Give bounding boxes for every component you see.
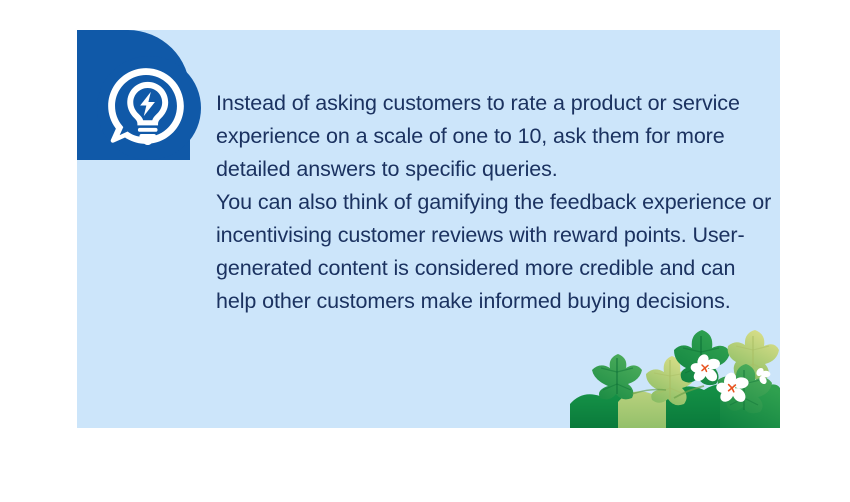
white-flower <box>690 352 721 383</box>
white-flower <box>755 367 771 386</box>
lightbulb-speech-bubble-icon <box>103 63 189 149</box>
white-flower <box>715 371 749 405</box>
slide-canvas: Instead of asking customers to rate a pr… <box>0 0 850 502</box>
callout-body-text: Instead of asking customers to rate a pr… <box>216 87 772 318</box>
plants-with-white-flowers-illustration <box>570 328 780 428</box>
callout-card: Instead of asking customers to rate a pr… <box>77 30 780 428</box>
